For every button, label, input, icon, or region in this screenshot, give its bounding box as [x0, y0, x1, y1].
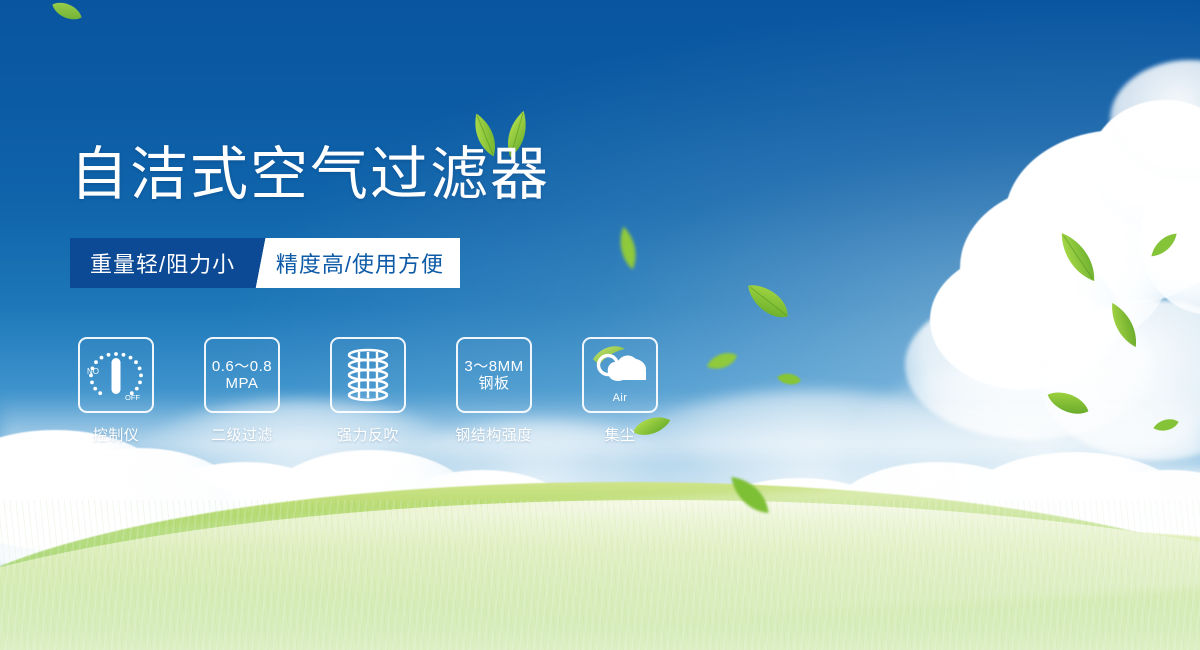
feature-item-control-panel[interactable]: NO OFF 控制仪 — [78, 337, 154, 445]
feature-item-strong-backblow[interactable]: 强力反吹 — [330, 337, 406, 445]
product-banner: 自洁式空气过滤器 重量轻/阻力小 精度高/使用方便 — [0, 0, 1200, 650]
gauge-off-label: OFF — [125, 393, 140, 402]
page-title: 自洁式空气过滤器 — [70, 146, 550, 204]
subtitle-bar: 重量轻/阻力小 精度高/使用方便 — [70, 238, 460, 288]
gauge-no-label: NO — [87, 367, 99, 376]
subtitle-right: 精度高/使用方便 — [270, 238, 460, 288]
subtitle-left: 重量轻/阻力小 — [70, 238, 253, 288]
steel-plate-label: 钢板 — [464, 375, 523, 392]
feature-label: 强力反吹 — [337, 424, 399, 445]
feature-list: NO OFF 控制仪 0.6～0.8 MPA 二级过滤 — [78, 337, 658, 445]
gauge-icon: NO OFF — [78, 337, 154, 413]
feature-label: 钢结构强度 — [455, 424, 533, 445]
air-cloud-icon: Air — [582, 337, 658, 413]
feature-item-steel-strength[interactable]: 3～8MM 钢板 钢结构强度 — [456, 337, 532, 445]
filter-cartridge-icon — [330, 337, 406, 413]
subtitle-divider-slash — [253, 238, 270, 288]
pressure-unit: MPA — [212, 375, 272, 392]
feature-label: 二级过滤 — [211, 424, 273, 445]
grass-highlight — [0, 500, 1200, 650]
feature-item-two-stage-filter[interactable]: 0.6～0.8 MPA 二级过滤 — [204, 337, 280, 445]
pressure-value: 0.6～0.8 — [212, 358, 272, 375]
steel-thickness: 3～8MM — [464, 358, 523, 375]
pressure-text-icon: 0.6～0.8 MPA — [204, 337, 280, 413]
feature-label: 控制仪 — [93, 424, 140, 445]
air-label: Air — [584, 392, 656, 404]
steel-plate-text-icon: 3～8MM 钢板 — [456, 337, 532, 413]
grass-field — [0, 420, 1200, 650]
